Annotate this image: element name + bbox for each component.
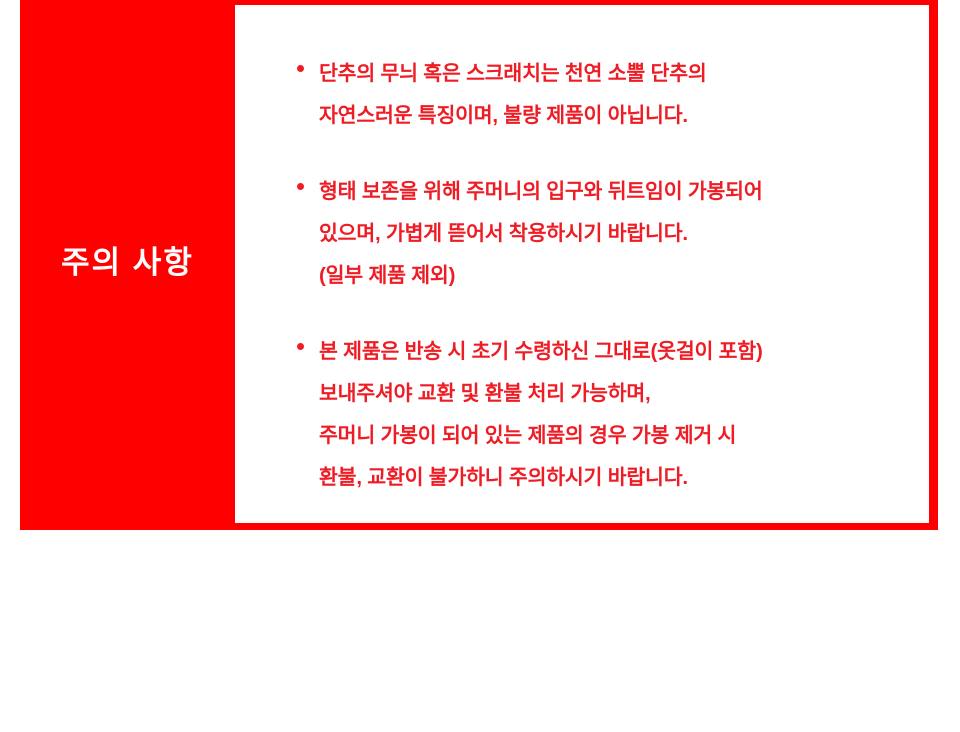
notice-label-column: 주의 사항 (20, 0, 235, 530)
notice-list: 단추의 무늬 혹은 스크래치는 천연 소뿔 단추의 자연스러운 특징이며, 불량… (297, 53, 929, 499)
notice-line: 형태 보존을 위해 주머니의 입구와 뒤트임이 가봉되어 (319, 171, 929, 213)
bullet-dot-icon (297, 65, 304, 72)
notice-label-title: 주의 사항 (61, 244, 194, 281)
notice-banner: 주의 사항 단추의 무늬 혹은 스크래치는 천연 소뿔 단추의 자연스러운 특징… (20, 0, 938, 530)
notice-list-item: 형태 보존을 위해 주머니의 입구와 뒤트임이 가봉되어 있으며, 가볍게 뜯어… (297, 171, 929, 297)
bullet-dot-icon (297, 343, 304, 350)
notice-line: 단추의 무늬 혹은 스크래치는 천연 소뿔 단추의 (319, 53, 929, 95)
notice-list-item: 단추의 무늬 혹은 스크래치는 천연 소뿔 단추의 자연스러운 특징이며, 불량… (297, 53, 929, 137)
notice-line: 보내주셔야 교환 및 환불 처리 가능하며, (319, 373, 929, 415)
notice-list-item: 본 제품은 반송 시 초기 수령하신 그대로(옷걸이 포함) 보내주셔야 교환 … (297, 331, 929, 499)
notice-line: (일부 제품 제외) (319, 255, 929, 297)
notice-line: 주머니 가봉이 되어 있는 제품의 경우 가봉 제거 시 (319, 415, 929, 457)
notice-line: 본 제품은 반송 시 초기 수령하신 그대로(옷걸이 포함) (319, 331, 929, 373)
notice-line: 자연스러운 특징이며, 불량 제품이 아닙니다. (319, 95, 929, 137)
notice-content-column: 단추의 무늬 혹은 스크래치는 천연 소뿔 단추의 자연스러운 특징이며, 불량… (235, 5, 929, 523)
notice-line: 환불, 교환이 불가하니 주의하시기 바랍니다. (319, 457, 929, 499)
notice-line: 있으며, 가볍게 뜯어서 착용하시기 바랍니다. (319, 213, 929, 255)
bullet-dot-icon (297, 183, 304, 190)
